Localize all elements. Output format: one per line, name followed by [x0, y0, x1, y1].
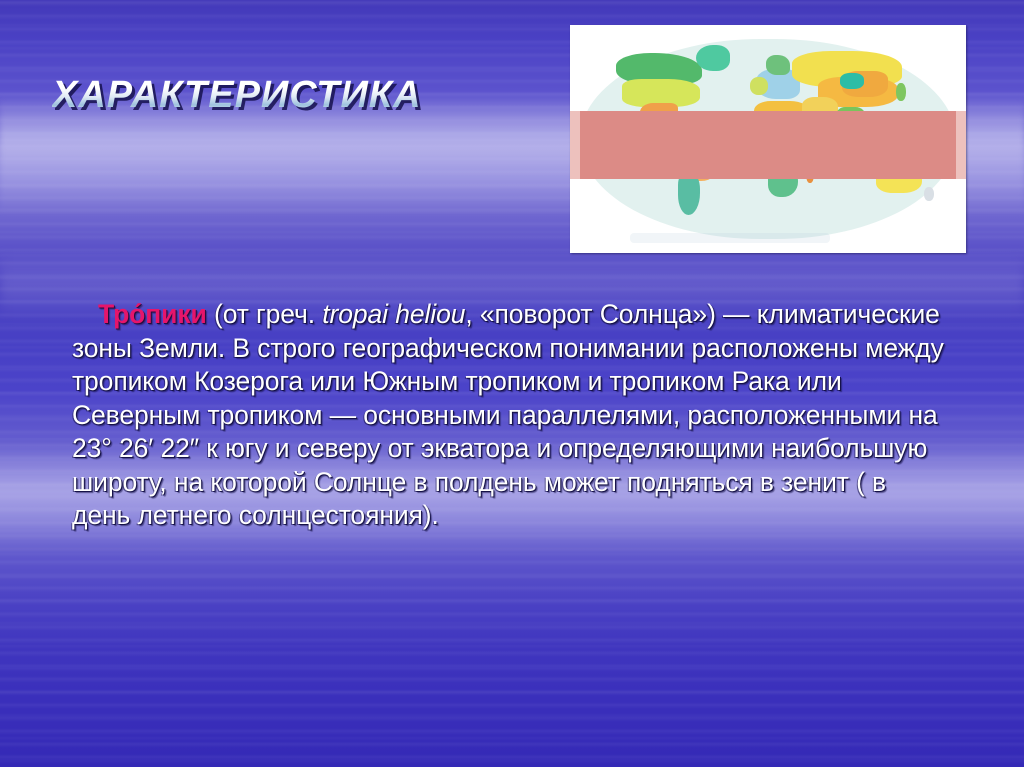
landmass-new-zealand [924, 187, 934, 201]
term-prefix: (от греч. [207, 299, 323, 329]
map-caption-ghost [630, 233, 830, 243]
body-paragraph: Тро́пики (от греч. tropai heliou, «повор… [72, 298, 944, 533]
landmass-europe-west [750, 77, 768, 95]
landmass-north-america-greenland [696, 45, 730, 71]
landmass-scandinavia [766, 55, 790, 75]
presentation-slide: ХАРАКТЕРИСТИКА [0, 0, 1024, 767]
page-title: ХАРАКТЕРИСТИКА [52, 76, 572, 116]
map-canvas [570, 25, 966, 253]
term-keyword: Тро́пики [98, 299, 207, 329]
title-container: ХАРАКТЕРИСТИКА [52, 76, 572, 116]
term-definition: , «поворот Солнца») — климатические зоны… [72, 299, 944, 530]
landmass-asia-caspian [840, 73, 864, 89]
world-map-image [570, 25, 966, 253]
map-tropic-band [570, 111, 966, 179]
term-latin: tropai heliou [322, 299, 465, 329]
landmass-japan [896, 83, 906, 101]
